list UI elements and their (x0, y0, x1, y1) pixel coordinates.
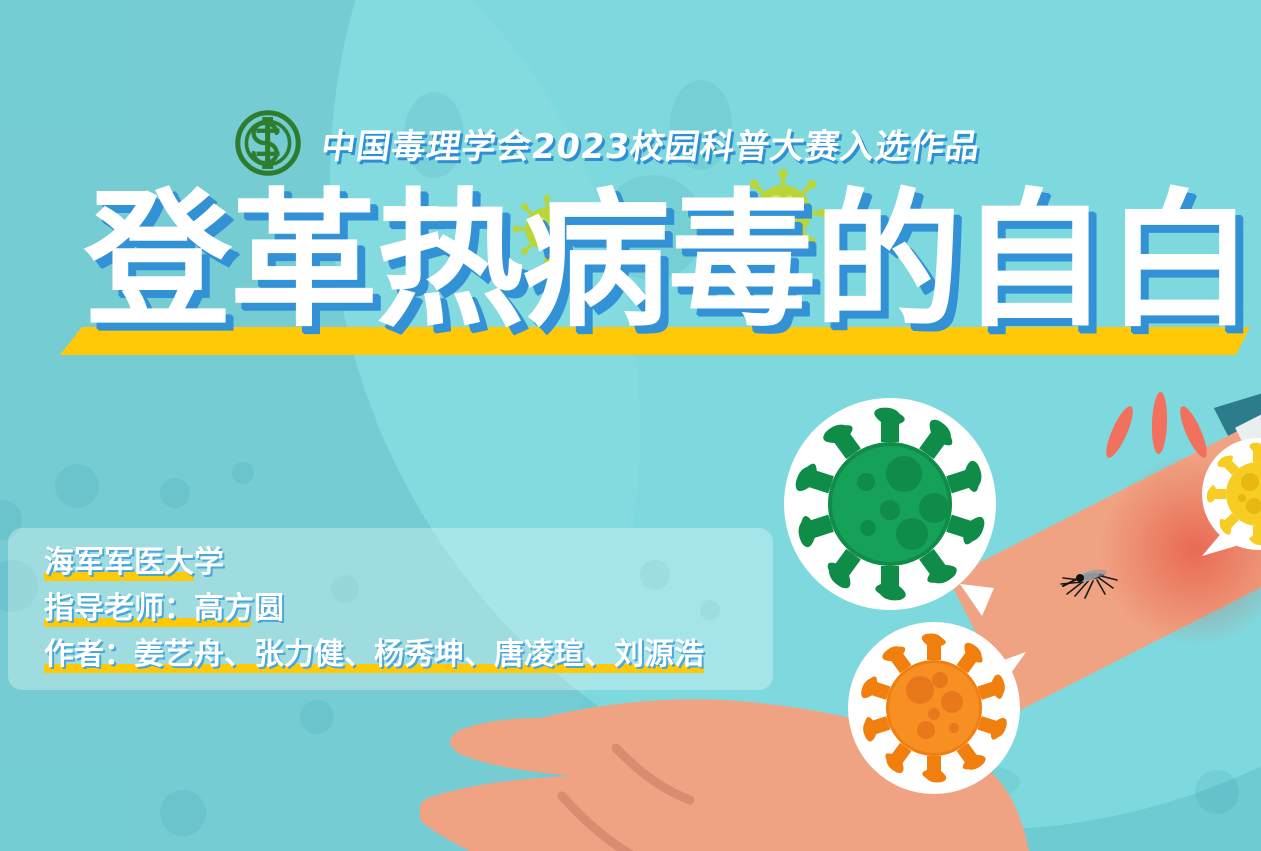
background-bubble-7 (300, 700, 334, 734)
credit-row-advisor: 指导老师：高方圆 (44, 586, 704, 631)
credits-block: 海军军医大学 指导老师：高方圆 作者：姜艺舟、张力健、杨秀坤、唐凌瑄、刘源浩 (44, 540, 704, 678)
background-bubble-1 (55, 464, 99, 508)
yellow-virus-speech-bubble (1196, 438, 1261, 573)
orange-virus-speech-bubble (848, 618, 1028, 803)
credit-row-authors: 作者：姜艺舟、张力健、杨秀坤、唐凌瑄、刘源浩 (44, 632, 704, 677)
credit-advisor: 指导老师：高方圆 (44, 586, 284, 631)
competition-header: 中国毒理学会2023校园科普大赛入选作品 (232, 107, 981, 179)
credit-row-university: 海军军医大学 (44, 540, 704, 585)
header-title-text: 中国毒理学会2023校园科普大赛入选作品 (319, 119, 985, 168)
green-virus-speech-bubble (782, 398, 1012, 628)
background-bubble-2 (160, 478, 190, 508)
poster-canvas: 中国毒理学会2023校园科普大赛入选作品 (0, 0, 1261, 851)
page-title: 登革热病毒的自白 (84, 186, 1252, 336)
credit-authors: 作者：姜艺舟、张力健、杨秀坤、唐凌瑄、刘源浩 (44, 632, 704, 677)
background-bubble-4 (232, 462, 254, 484)
mosquito-icon (1055, 556, 1135, 607)
background-bubble-8 (160, 790, 206, 836)
credit-university: 海军军医大学 (44, 540, 224, 585)
china-society-of-toxicology-logo (232, 107, 304, 179)
